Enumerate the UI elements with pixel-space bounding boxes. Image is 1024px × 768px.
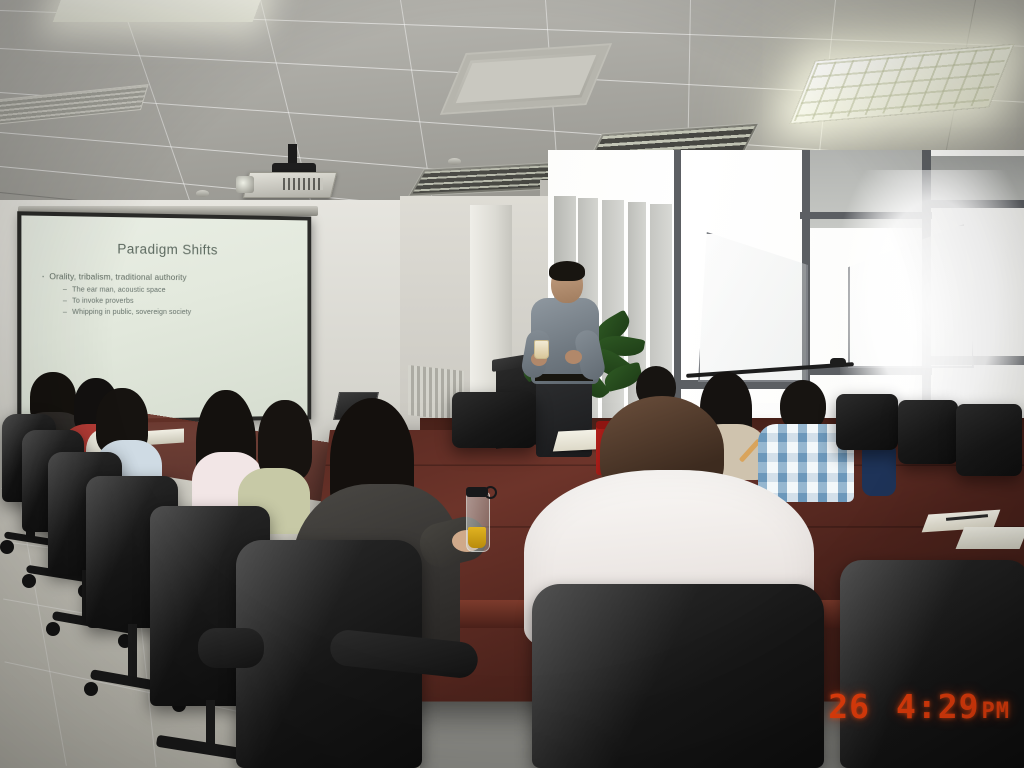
slide-subbullet-2: To invoke proverbs [63,298,294,306]
presenter-hand-right [565,350,582,364]
office-chair-foreground [840,560,1024,768]
bottle-contents [468,527,486,548]
chair-caster [0,540,14,554]
timestamp-time: 4:29 [896,687,979,726]
chair-stem [128,624,137,682]
chair-caster [84,682,98,696]
slide-bullet-1: Orality, tribalism, traditional authorit… [42,272,294,283]
office-chair-foreground [532,584,824,768]
smoke-detector-icon [448,158,461,165]
office-chair [836,394,898,450]
chair-caster [22,574,36,588]
attendee-body [862,442,896,496]
timestamp-day: 26 [828,687,870,726]
chair-caster [46,622,60,636]
timestamp-time-group: 4:29PM [896,687,1010,726]
chair-armrest [198,628,264,668]
paper-cup [534,340,549,359]
papers [956,527,1024,549]
awning-window-open [698,232,808,382]
slide-title: Paradigm Shifts [36,240,294,258]
projector-vent [283,178,323,190]
camera-timestamp: 26 4:29PM [828,687,1010,726]
presenter-hair [549,261,585,281]
bottle-loop [484,486,497,499]
microphone-head [830,358,846,367]
slide-subbullet-3: Whipping in public, sovereign society [63,309,294,316]
smoke-detector-icon [196,190,209,197]
hvac-diffuser-icon [440,43,612,115]
timestamp-ampm: PM [982,699,1011,724]
photo-conference-room: Paradigm Shifts Orality, tribalism, trad… [0,0,1024,768]
office-chair [898,400,958,464]
slide-subbullet-1: The ear man, acoustic space [63,286,294,294]
projector-lens-icon [236,176,254,193]
office-chair [452,392,536,448]
office-chair [956,404,1022,476]
ceiling-light-fixture [53,0,268,22]
